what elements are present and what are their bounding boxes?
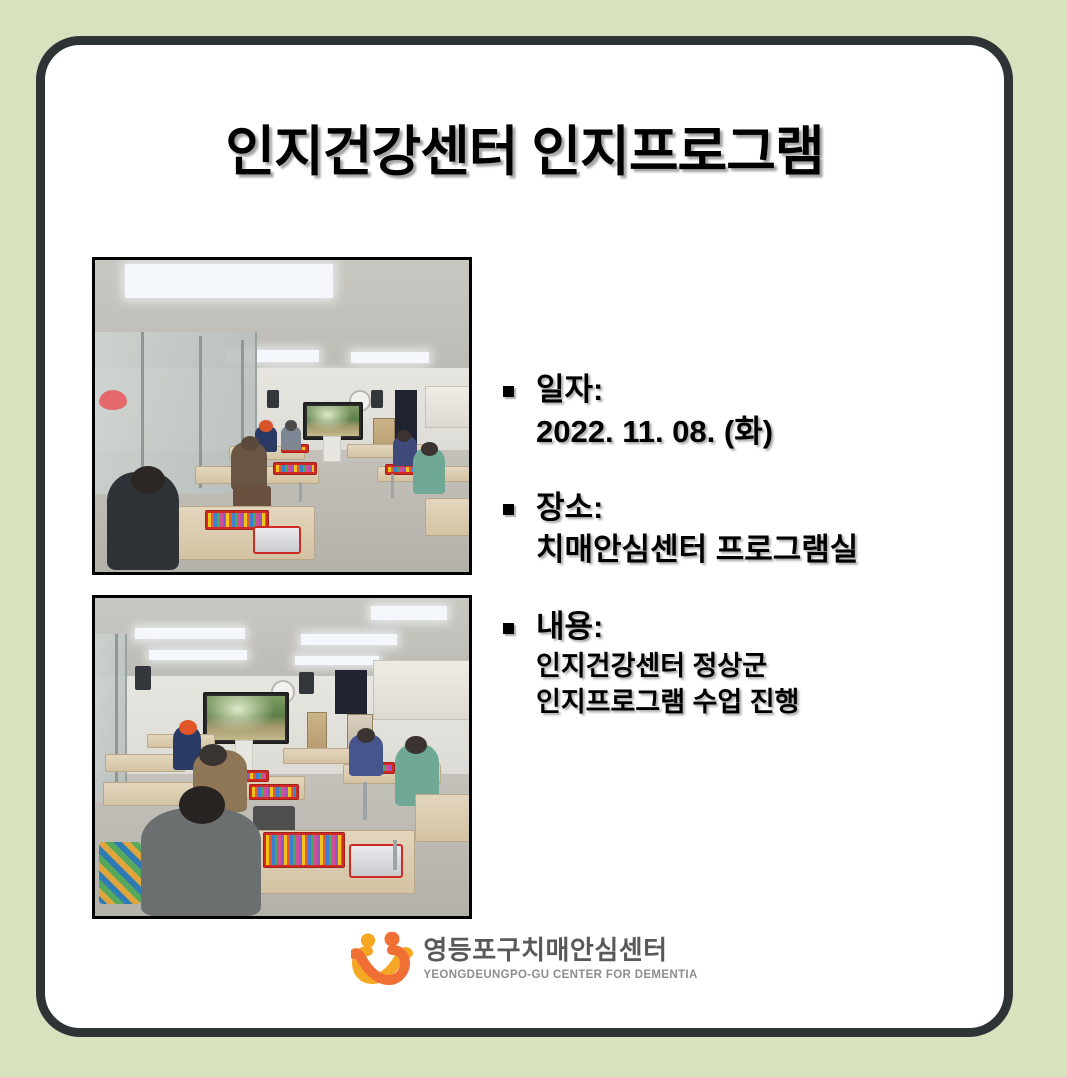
info-item-location: 장소: 치매안심센터 프로그램실 bbox=[503, 488, 973, 570]
desk-leg bbox=[299, 482, 302, 502]
participant-hat bbox=[241, 436, 259, 451]
info-label-date: 일자: bbox=[536, 370, 603, 411]
info-values-location: 치매안심센터 프로그램실 bbox=[536, 529, 973, 571]
metal-tray bbox=[253, 526, 301, 554]
info-values-date: 2022. 11. 08. (화) bbox=[536, 411, 973, 453]
ceiling-light-panel bbox=[301, 634, 397, 645]
info-value-date: 2022. 11. 08. (화) bbox=[536, 411, 973, 453]
info-value-content-line2: 인지프로그램 수업 진행 bbox=[536, 684, 973, 720]
ceiling-light-panel bbox=[135, 628, 245, 639]
wall-speaker bbox=[135, 666, 151, 690]
tv-screen bbox=[307, 406, 359, 436]
desk-leg bbox=[393, 840, 397, 870]
tv-screen bbox=[207, 696, 285, 740]
heart-poster bbox=[99, 390, 127, 410]
organization-logo: 영등포구치매안심센터 YEONGDEUNGPO-GU CENTER FOR DE… bbox=[45, 932, 1004, 986]
ceiling-light-panel bbox=[295, 656, 379, 665]
poster-card: 인지건강센터 인지프로그램 bbox=[36, 36, 1013, 1037]
info-label-location: 장소: bbox=[536, 488, 603, 529]
wooden-cabinet bbox=[307, 712, 327, 750]
patterned-bag bbox=[99, 842, 141, 904]
participant-head bbox=[179, 786, 225, 824]
square-bullet-icon bbox=[503, 623, 514, 634]
tv-stand bbox=[323, 436, 341, 462]
classroom-close-view-photo bbox=[92, 595, 472, 919]
photo-scene bbox=[95, 598, 469, 916]
ceiling-light-panel bbox=[371, 606, 447, 620]
tv-monitor bbox=[303, 402, 363, 440]
participant-cap bbox=[259, 420, 273, 432]
info-label-content: 내용: bbox=[536, 607, 603, 648]
participant-head bbox=[405, 736, 427, 754]
ceiling-light-panel bbox=[125, 264, 333, 298]
info-value-content-line1: 인지건강센터 정상군 bbox=[536, 648, 973, 684]
square-bullet-icon bbox=[503, 386, 514, 397]
logo-korean-name: 영등포구치매안심센터 bbox=[423, 936, 697, 966]
classroom-wide-view-photo bbox=[92, 257, 472, 575]
info-item-date: 일자: 2022. 11. 08. (화) bbox=[503, 370, 973, 452]
info-head: 일자: bbox=[503, 370, 973, 411]
participant-head bbox=[199, 744, 227, 766]
desk bbox=[425, 498, 469, 536]
ceiling-light-panel bbox=[149, 650, 247, 660]
ceiling-light-panel bbox=[351, 352, 429, 363]
desk-leg bbox=[391, 474, 394, 498]
info-column: 일자: 2022. 11. 08. (화) 장소: 치매안심센터 프로그램실 내… bbox=[503, 370, 973, 720]
wall-speaker bbox=[299, 672, 314, 694]
participant-head bbox=[131, 466, 165, 494]
participant-head bbox=[421, 442, 438, 456]
dark-curtain bbox=[335, 670, 367, 714]
info-item-content: 내용: 인지건강센터 정상군 인지프로그램 수업 진행 bbox=[503, 607, 973, 720]
wall-speaker bbox=[267, 390, 279, 408]
chair bbox=[233, 486, 271, 508]
two-people-embrace-icon bbox=[351, 932, 413, 986]
window-blind bbox=[425, 386, 469, 428]
info-head: 내용: bbox=[503, 607, 973, 648]
participant-cap bbox=[179, 720, 197, 735]
info-head: 장소: bbox=[503, 488, 973, 529]
page-title: 인지건강센터 인지프로그램 bbox=[225, 123, 823, 182]
logo-english-name: YEONGDEUNGPO-GU CENTER FOR DEMENTIA bbox=[423, 969, 697, 983]
tv-monitor bbox=[203, 692, 289, 744]
participant-foreground bbox=[141, 808, 261, 916]
participant-head bbox=[285, 420, 297, 431]
info-values-content: 인지건강센터 정상군 인지프로그램 수업 진행 bbox=[536, 648, 973, 720]
logo-text-block: 영등포구치매안심센터 YEONGDEUNGPO-GU CENTER FOR DE… bbox=[423, 936, 697, 983]
info-value-location: 치매안심센터 프로그램실 bbox=[536, 529, 973, 571]
window-blind bbox=[373, 660, 469, 720]
desk bbox=[415, 794, 469, 842]
square-bullet-icon bbox=[503, 504, 514, 515]
desk-leg bbox=[363, 782, 367, 820]
glass-partition-wall bbox=[95, 634, 127, 802]
photo-scene bbox=[95, 260, 469, 572]
participant-head bbox=[357, 728, 375, 743]
glass-mullion bbox=[115, 634, 118, 800]
wall-speaker bbox=[371, 390, 383, 408]
page-title-container: 인지건강센터 인지프로그램 bbox=[45, 123, 1004, 182]
participant-head bbox=[397, 430, 411, 442]
photo-column bbox=[92, 257, 472, 919]
